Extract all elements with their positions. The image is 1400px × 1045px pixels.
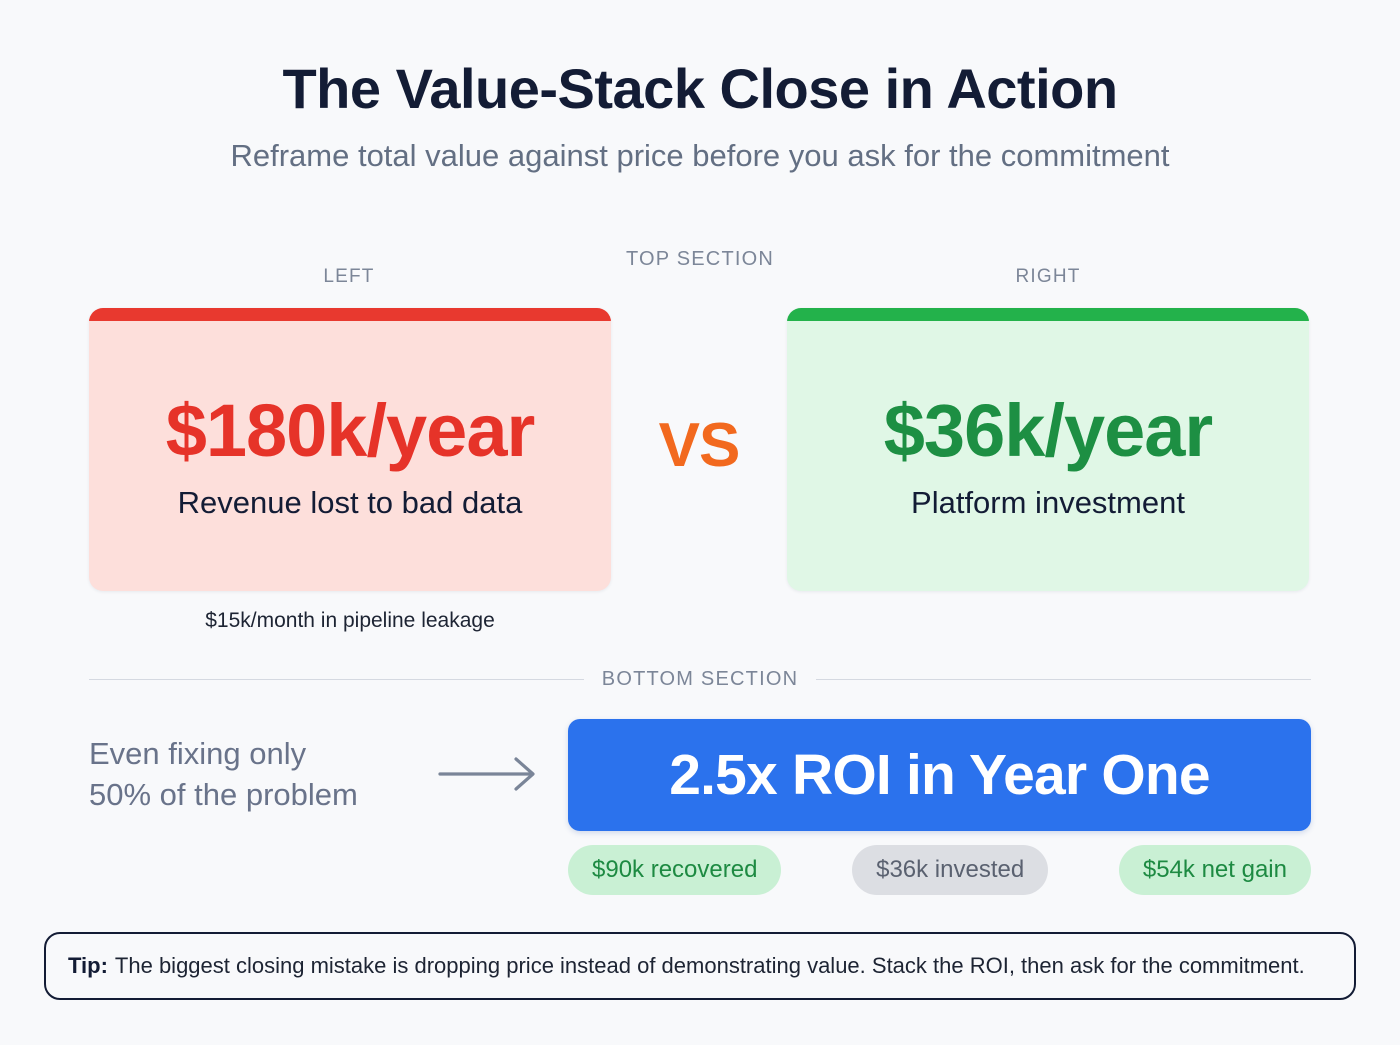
cost-card: $180k/year Revenue lost to bad data (89, 308, 611, 591)
pill-net-gain: $54k net gain (1119, 845, 1311, 895)
left-column-label: LEFT (249, 266, 449, 288)
top-section-label: TOP SECTION (0, 248, 1400, 271)
page-title: The Value-Stack Close in Action (0, 58, 1400, 121)
pill-invested: $36k invested (852, 845, 1048, 895)
cost-card-footnote: $15k/month in pipeline leakage (89, 609, 611, 633)
bottom-lead-text: Even fixing only 50% of the problem (89, 733, 429, 815)
header: The Value-Stack Close in Action Reframe … (0, 58, 1400, 174)
cost-card-caption: Revenue lost to bad data (178, 484, 523, 521)
divider-line-left (89, 679, 584, 680)
cost-card-amount: $180k/year (166, 392, 535, 470)
cost-card-accent-bar (89, 308, 611, 321)
investment-card-caption: Platform investment (911, 484, 1185, 521)
infographic-page: The Value-Stack Close in Action Reframe … (0, 0, 1400, 1045)
bottom-lead-line-2: 50% of the problem (89, 774, 429, 815)
bottom-section-label: BOTTOM SECTION (602, 668, 798, 691)
roi-banner-text: 2.5x ROI in Year One (669, 747, 1210, 804)
roi-banner: 2.5x ROI in Year One (568, 719, 1311, 831)
arrow-right-icon (438, 752, 542, 796)
right-column-label: RIGHT (948, 266, 1148, 288)
tip-label: Tip: (68, 953, 108, 979)
bottom-lead-line-1: Even fixing only (89, 733, 429, 774)
tip-box: Tip: The biggest closing mistake is drop… (44, 932, 1356, 1000)
pill-recovered: $90k recovered (568, 845, 781, 895)
roi-breakdown-pills: $90k recovered $36k invested $54k net ga… (568, 845, 1311, 895)
bottom-section-divider: BOTTOM SECTION (89, 668, 1311, 691)
investment-card: $36k/year Platform investment (787, 308, 1309, 591)
investment-card-amount: $36k/year (884, 392, 1212, 470)
versus-label: VS (611, 410, 787, 481)
page-subtitle: Reframe total value against price before… (0, 137, 1400, 174)
investment-card-accent-bar (787, 308, 1309, 321)
divider-line-right (816, 679, 1311, 680)
tip-text: The biggest closing mistake is dropping … (115, 953, 1305, 979)
